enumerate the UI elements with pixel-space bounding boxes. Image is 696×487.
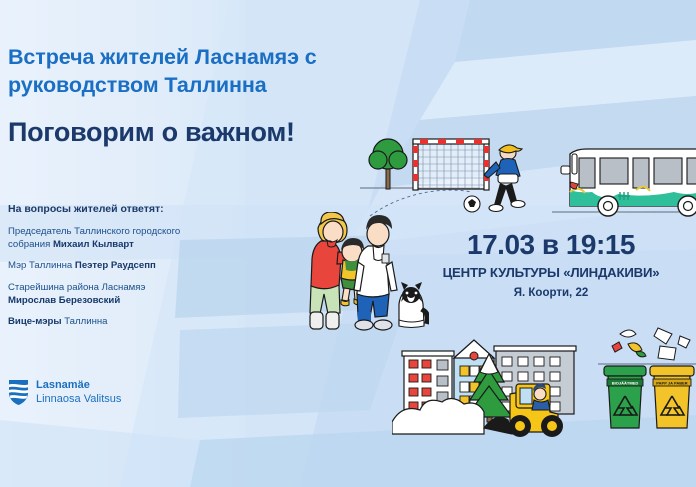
winter-city-scene xyxy=(392,332,597,440)
list-item: Мэр Таллинна Пеэтер Раудсепп xyxy=(8,260,223,273)
poster-subheadline: Поговорим о важном! xyxy=(8,117,295,148)
tree-icon xyxy=(369,139,407,189)
speaker-role: Мэр Таллинна xyxy=(8,260,72,271)
speaker-role: Таллинна xyxy=(64,316,107,327)
man-figure xyxy=(354,215,397,330)
list-item: Председатель Таллинского городского собр… xyxy=(8,226,223,251)
speaker-name: Мирослав Березовский xyxy=(8,295,120,306)
city-bus-icon xyxy=(548,140,696,220)
speaker-name: Михаил Кылварт xyxy=(53,239,134,250)
speaker-name: Вице-мэры xyxy=(8,316,62,327)
family-group-icon xyxy=(294,212,429,334)
shield-waves-icon xyxy=(8,379,29,406)
event-date: 17.03 в 19:15 xyxy=(406,230,696,259)
event-info: 17.03 в 19:15 ЦЕНТР КУЛЬТУРЫ «ЛИНДАКИВИ»… xyxy=(406,230,696,299)
logo-text: Lasnamäe Linnaosa Valitsus xyxy=(36,378,121,406)
list-item: Вице-мэры Таллинна xyxy=(8,316,223,329)
bin-green: BIOJÄÄTMED xyxy=(604,366,646,428)
logo-line-1: Lasnamäe xyxy=(36,378,121,392)
lasnamae-logo: Lasnamäe Linnaosa Valitsus xyxy=(8,378,121,406)
bin-yellow-label: PAPP JA PABER xyxy=(656,381,688,386)
logo-line-2: Linnaosa Valitsus xyxy=(36,392,121,406)
poster-root: Встреча жителей Ласнамяэ с руководством … xyxy=(0,0,696,487)
list-item: Старейшина района Ласнамяэ Мирослав Бере… xyxy=(8,282,223,307)
recycling-bins-icon: BIOJÄÄTMED PAPP JA PABER xyxy=(598,322,696,434)
speaker-role: Старейшина района Ласнамяэ xyxy=(8,282,145,293)
event-address: Я. Коорти, 22 xyxy=(406,287,696,299)
event-venue: ЦЕНТР КУЛЬТУРЫ «ЛИНДАКИВИ» xyxy=(406,265,696,280)
poster-headline: Встреча жителей Ласнамяэ с руководством … xyxy=(8,44,408,99)
dog-icon xyxy=(399,282,429,328)
football-goal-icon xyxy=(413,139,489,190)
speaker-name: Пеэтер Раудсепп xyxy=(75,260,156,271)
bin-green-label: BIOJÄÄTMED xyxy=(612,381,639,386)
football-ball-icon xyxy=(464,196,480,212)
bin-yellow: PAPP JA PABER xyxy=(650,366,694,428)
speaker-list: Председатель Таллинского городского собр… xyxy=(8,226,223,338)
football-player-icon xyxy=(484,145,525,212)
waste-items xyxy=(612,328,690,360)
qa-section-title: На вопросы жителей ответят: xyxy=(8,203,164,215)
football-scene xyxy=(360,128,535,223)
